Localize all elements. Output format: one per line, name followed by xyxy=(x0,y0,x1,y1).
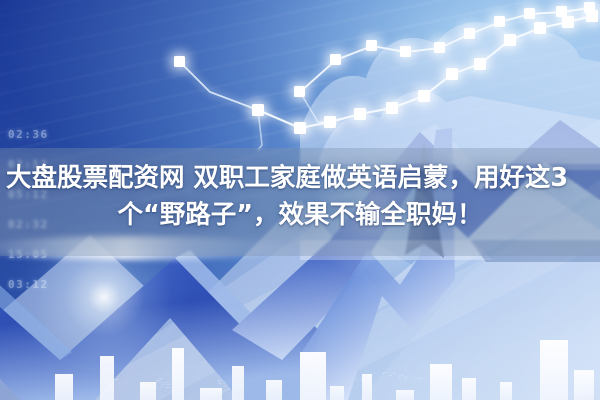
side-ticker-value: 03:12 xyxy=(8,270,98,300)
headline-line-2: 个“野路子”，效果不输全职妈！ xyxy=(6,197,594,234)
ticker-value: -02.36 xyxy=(282,381,323,383)
banner-image: -4.35 2.26 -50.02 -11.25 21.02 45.02 -1.… xyxy=(0,0,600,400)
page-title: 大盘股票配资网 双职工家庭做英语启蒙，用好这3 个“野路子”，效果不输全职妈！ xyxy=(0,160,600,234)
ticker-value: -1.02 xyxy=(396,378,428,380)
headline-line-1: 大盘股票配资网 双职工家庭做英语启蒙，用好这3 xyxy=(6,160,594,197)
ticker-value: 22.35 xyxy=(344,380,378,382)
ticker-number-plane: -4.35 2.26 -50.02 -11.25 21.02 45.02 -1.… xyxy=(0,372,600,400)
ticker-value: -26.32 xyxy=(131,386,183,389)
side-ticker-value: 02:36 xyxy=(8,120,98,150)
ticker-value: -25.38 xyxy=(212,384,256,387)
side-ticker-value: 15:05 xyxy=(8,240,98,270)
